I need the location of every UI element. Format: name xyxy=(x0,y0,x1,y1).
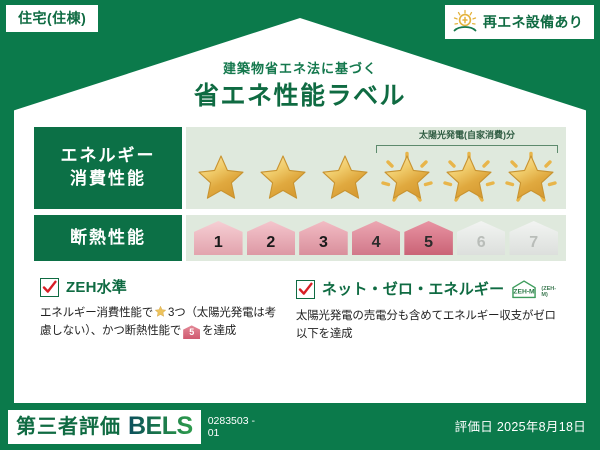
building-type-tag: 住宅(住棟) xyxy=(6,5,98,32)
achievements-section: ZEH水準エネルギー消費性能で3つ（太陽光発電は考慮しない）、かつ断熱性能で5を… xyxy=(34,278,566,344)
insulation-level-value: 7 xyxy=(529,234,538,252)
page-title: 省エネ性能ラベル xyxy=(34,84,566,109)
energy-label-line1: エネルギー xyxy=(61,145,156,168)
solar-star-icon xyxy=(380,151,434,205)
insulation-level-value: 4 xyxy=(372,234,381,252)
energy-label-line2: 消費性能 xyxy=(70,168,146,191)
third-party-label: 第三者評価 xyxy=(16,417,121,437)
bels-id: 0283503 - 01 xyxy=(208,415,268,439)
label-subtitle: 建築物省エネ法に基づく xyxy=(34,62,566,75)
insulation-level-chip: 3 xyxy=(299,221,348,255)
solar-star-icon xyxy=(442,151,496,205)
evaluation-date: 評価日 2025年8月18日 xyxy=(455,421,586,434)
star-icon xyxy=(256,151,310,205)
insulation-level-chip: 2 xyxy=(247,221,296,255)
star-icon xyxy=(194,151,248,205)
insulation-level-value: 3 xyxy=(319,234,328,252)
insulation-performance-row: 断熱性能 1234567 xyxy=(34,215,566,261)
achievement-header: ネット・ゼロ・エネルギーZEH-M(ZEH-M) xyxy=(296,278,560,300)
metrics-section: エネルギー 消費性能 太陽光発電(自家消費)分 xyxy=(34,127,566,261)
achievement-title: ネット・ゼロ・エネルギー xyxy=(322,282,504,297)
svg-text:ZEH-M: ZEH-M xyxy=(514,288,536,295)
energy-performance-row: エネルギー 消費性能 太陽光発電(自家消費)分 xyxy=(34,127,566,209)
achievement-header: ZEH水準 xyxy=(40,278,282,297)
insulation-level-value: 2 xyxy=(266,234,275,252)
zeh-m-logo-icon: ZEH-M(ZEH-M) xyxy=(509,278,560,300)
star-list xyxy=(194,151,558,205)
bels-logo-text: BELS xyxy=(128,414,193,439)
renewable-badge-label: 再エネ設備あり xyxy=(483,15,583,29)
solar-bracket: 太陽光発電(自家消費)分 xyxy=(376,131,558,153)
insulation-level-chip: 1 xyxy=(194,221,243,255)
checkbox-checked-icon[interactable] xyxy=(40,278,59,297)
bels-certification-mark: 第三者評価 BELS xyxy=(8,410,201,444)
renewable-energy-badge: 再エネ設備あり xyxy=(445,5,594,39)
achievement-item: ネット・ゼロ・エネルギーZEH-M(ZEH-M)太陽光発電の売電分も含めてエネル… xyxy=(296,278,560,344)
insulation-level-chip: 5 xyxy=(404,221,453,255)
insulation-label-text: 断熱性能 xyxy=(70,227,146,250)
checkbox-checked-icon[interactable] xyxy=(296,280,315,299)
insulation-level-value: 5 xyxy=(424,234,433,252)
energy-star-rating: 太陽光発電(自家消費)分 xyxy=(186,127,566,209)
energy-performance-label: エネルギー 消費性能 xyxy=(34,127,182,209)
insulation-level-chip: 7 xyxy=(509,221,558,255)
star-icon xyxy=(318,151,372,205)
insulation-level-value: 6 xyxy=(477,234,486,252)
insulation-level-chip: 6 xyxy=(457,221,506,255)
solar-star-icon xyxy=(504,151,558,205)
star-icon xyxy=(154,305,167,318)
solar-bracket-label: 太陽光発電(自家消費)分 xyxy=(376,131,558,140)
label-panel: 建築物省エネ法に基づく 省エネ性能ラベル エネルギー 消費性能 太陽光発電(自家… xyxy=(14,18,586,403)
inline-insulation-chip: 5 xyxy=(183,325,200,339)
achievement-item: ZEH水準エネルギー消費性能で3つ（太陽光発電は考慮しない）、かつ断熱性能で5を… xyxy=(40,278,282,344)
zeh-m-logo-caption: (ZEH-M) xyxy=(541,287,560,300)
sun-icon xyxy=(452,9,478,35)
footer-bar: 第三者評価 BELS 0283503 - 01 評価日 2025年8月18日 xyxy=(0,404,600,450)
achievement-description: エネルギー消費性能で3つ（太陽光発電は考慮しない）、かつ断熱性能で5を達成 xyxy=(40,304,282,341)
achievement-description: 太陽光発電の売電分も含めてエネルギー収支がゼロ以下を達成 xyxy=(296,307,560,344)
achievement-title: ZEH水準 xyxy=(66,280,127,295)
insulation-performance-label: 断熱性能 xyxy=(34,215,182,261)
insulation-level-value: 1 xyxy=(214,234,223,252)
insulation-level-chip: 4 xyxy=(352,221,401,255)
insulation-level-scale: 1234567 xyxy=(186,215,566,261)
